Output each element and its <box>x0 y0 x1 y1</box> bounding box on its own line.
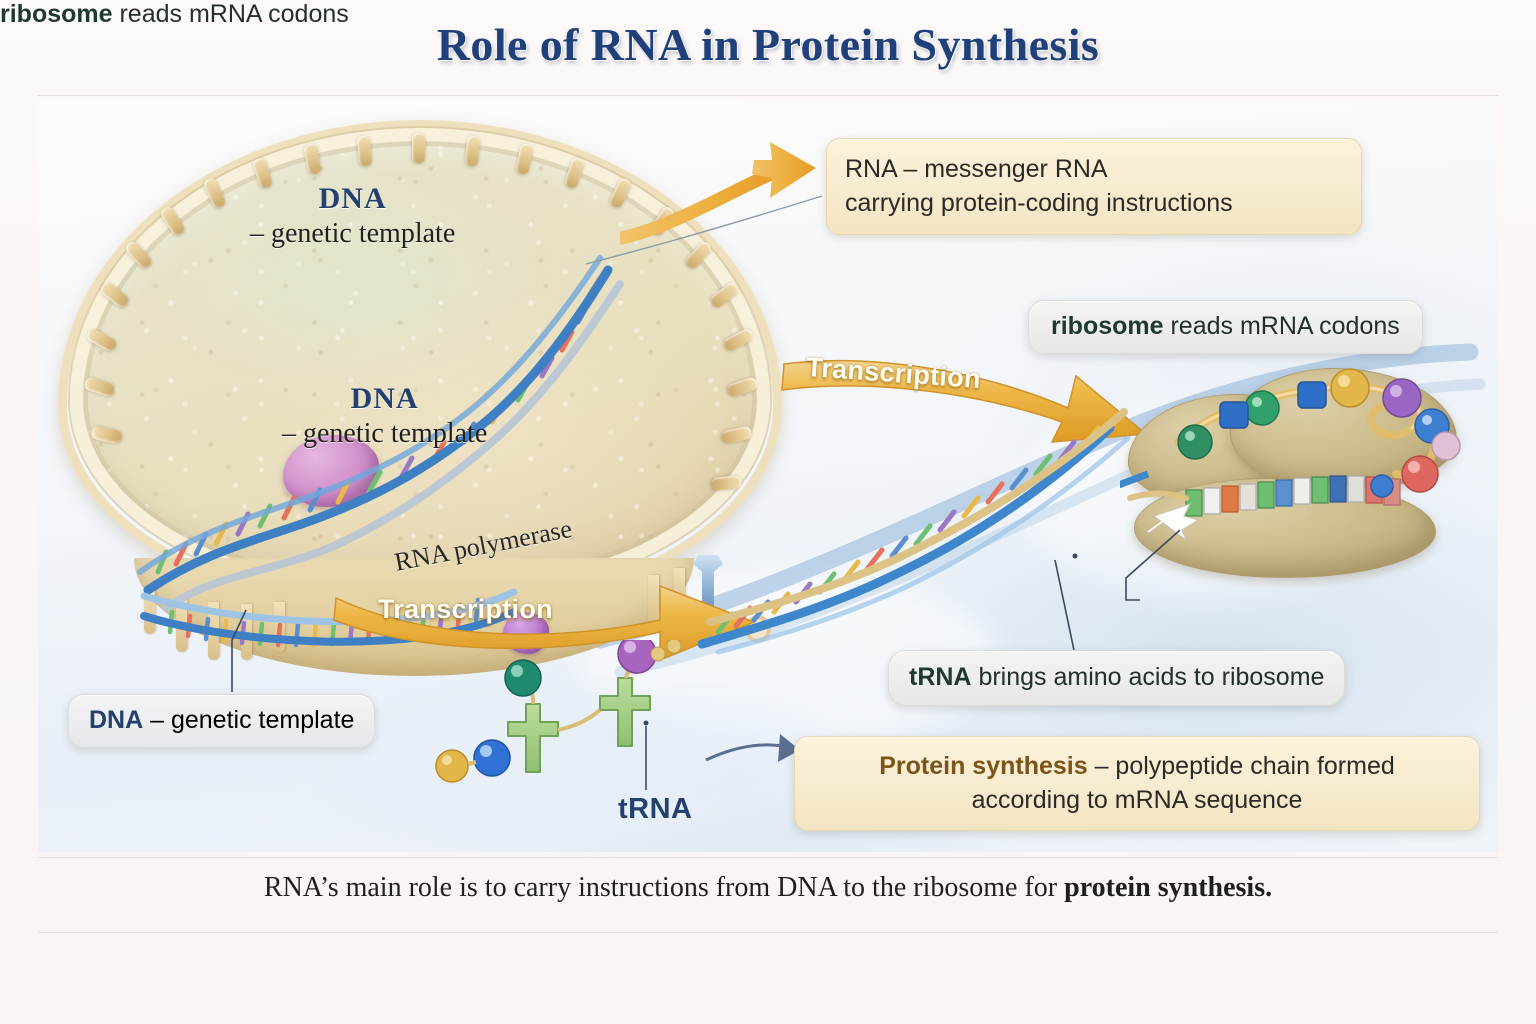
callout-protein-rest: – polypeptide chain formed <box>1088 752 1395 780</box>
callout-mrna-line2: carrying protein-coding instructions <box>845 187 1343 221</box>
callout-mrna-line1: RNA – messenger RNA <box>845 153 1343 187</box>
callout-protein-line2: according to mRNA sequence <box>813 784 1461 818</box>
callout-ribosome-rest: reads mRNA codons <box>1164 312 1400 340</box>
label-dna-template-1: DNA – genetic template <box>250 182 455 250</box>
callout-trna[interactable]: tRNA brings amino acids to ribosome <box>888 650 1345 706</box>
ribosome <box>1120 350 1520 590</box>
amino-acid-bead <box>474 740 510 776</box>
callout-trna-lead: tRNA <box>909 663 972 691</box>
label-trna: tRNA <box>618 793 693 826</box>
callout-dna-lead: DNA <box>89 706 143 734</box>
trna-molecule <box>600 640 656 746</box>
callout-trna-rest: brings amino acids to ribosome <box>972 663 1325 691</box>
label-dna-template-2: DNA – genetic template <box>282 382 487 450</box>
callout-protein-lead: Protein synthesis <box>879 752 1087 780</box>
callout-protein-synthesis[interactable]: Protein synthesis – polypeptide chain fo… <box>794 736 1480 831</box>
callout-dna-template[interactable]: DNA – genetic template <box>68 694 375 748</box>
diagram-canvas: Role of RNA in Protein Synthesis <box>0 0 1536 1024</box>
footer-bold: protein synthesis. <box>1064 872 1272 903</box>
callout-ribosome-boxed[interactable]: ribosome reads mRNA codons <box>1028 300 1423 354</box>
callout-mrna[interactable]: RNA – messenger RNA carrying protein-cod… <box>826 138 1362 235</box>
footer-text: RNA’s main role is to carry instructions… <box>264 872 1064 903</box>
trna-group <box>430 640 760 830</box>
mrna-strand <box>640 400 1200 680</box>
trna-molecule <box>505 660 558 772</box>
mrna-in-ribosome <box>1120 350 1520 590</box>
callout-dna-rest: – genetic template <box>143 706 354 734</box>
callout-protein-line1: Protein synthesis – polypeptide chain fo… <box>813 750 1461 784</box>
callout-ribosome-lead: ribosome <box>1051 312 1164 340</box>
footer-caption: RNA’s main role is to carry instructions… <box>0 872 1536 904</box>
amino-acid-bead <box>436 750 468 782</box>
